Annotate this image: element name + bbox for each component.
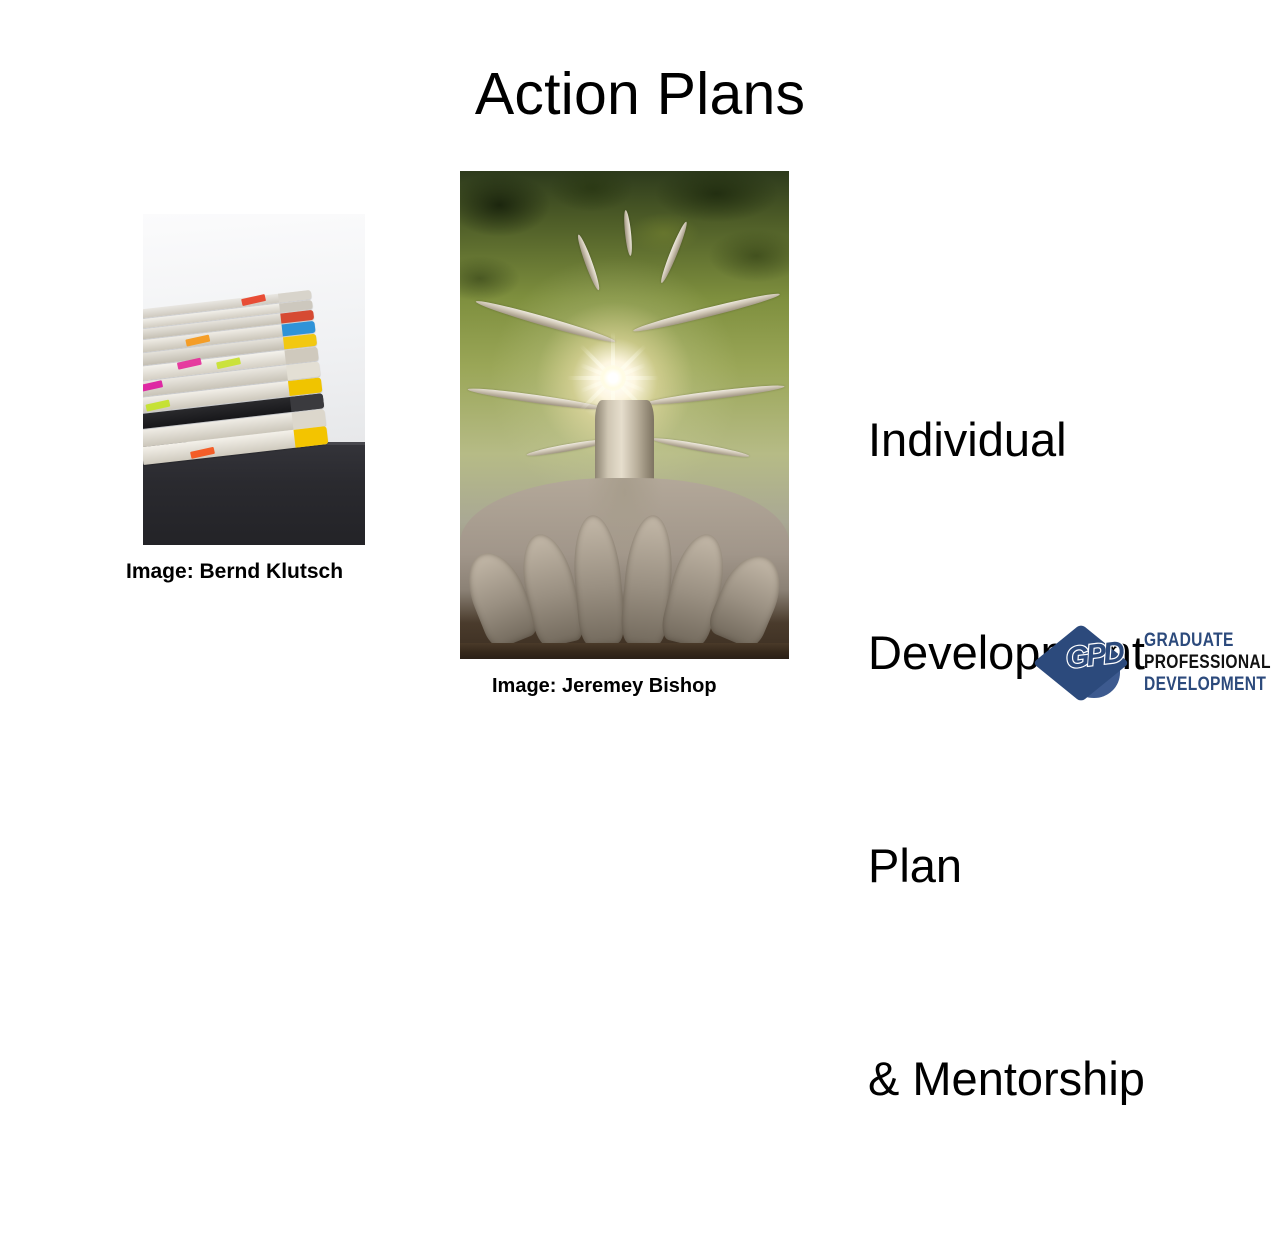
gpd-logo: GPD GRADUATE PROFESSIONAL DEVELOPMENT bbox=[1032, 620, 1272, 710]
page-title: Action Plans bbox=[0, 58, 1280, 130]
body-text-line-4: & Mentorship bbox=[868, 1043, 1268, 1114]
photo-books[interactable] bbox=[143, 214, 365, 545]
tree-roots bbox=[460, 478, 789, 659]
logo-word-graduate: GRADUATE bbox=[1144, 630, 1249, 652]
body-text-line-3: Plan bbox=[868, 830, 1268, 901]
body-text-line-1: Individual bbox=[868, 404, 1268, 475]
book-edge bbox=[293, 426, 328, 448]
tree-ground bbox=[460, 643, 789, 659]
logo-word-professional: PROFESSIONAL bbox=[1144, 652, 1249, 674]
photo-tree[interactable] bbox=[460, 171, 789, 659]
photo-tree-caption: Image: Jeremey Bishop bbox=[492, 673, 717, 700]
slide-canvas: Action Plans bbox=[0, 0, 1280, 720]
logo-wordmark: GRADUATE PROFESSIONAL DEVELOPMENT bbox=[1144, 630, 1272, 696]
body-text-block: Individual Development Plan & Mentorship bbox=[868, 262, 1268, 1256]
photo-books-caption: Image: Bernd Klutsch bbox=[126, 558, 343, 586]
logo-word-development: DEVELOPMENT bbox=[1144, 674, 1249, 696]
photo-books-stack bbox=[143, 277, 329, 469]
graduation-cap-icon: GPD bbox=[1046, 626, 1142, 704]
